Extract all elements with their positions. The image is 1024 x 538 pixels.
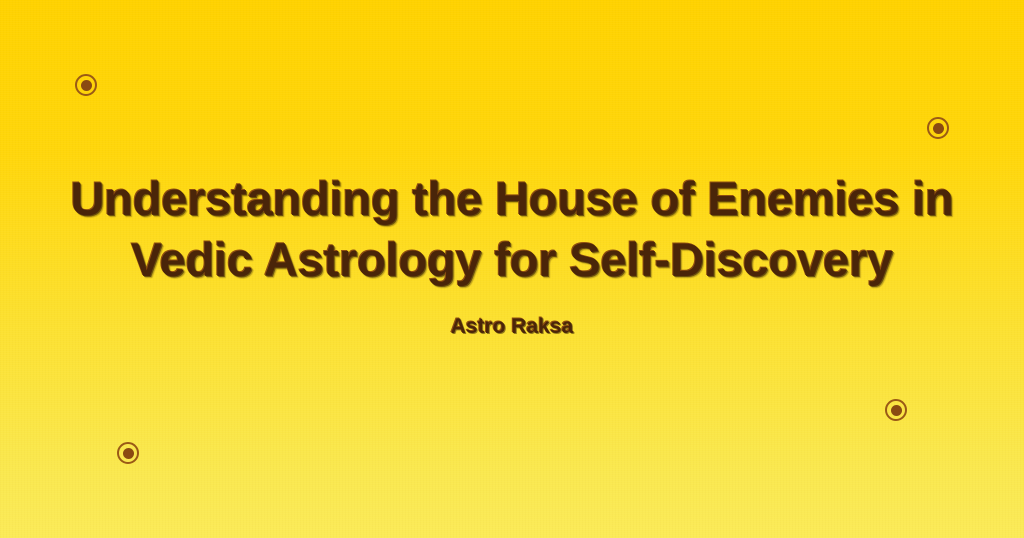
title-slide: Understanding the House of Enemies in Ve… — [0, 0, 1024, 538]
slide-subtitle: Astro Raksa — [40, 290, 984, 340]
circle-dot-center — [81, 80, 92, 91]
slide-content: Understanding the House of Enemies in Ve… — [0, 168, 1024, 340]
circle-dot-icon-bottom-right — [885, 399, 907, 421]
circle-dot-center — [933, 123, 944, 134]
circle-dot-icon-top-right — [927, 117, 949, 139]
circle-dot-center — [891, 405, 902, 416]
circle-dot-icon-top-left — [75, 74, 97, 96]
slide-title: Understanding the House of Enemies in Ve… — [40, 168, 984, 290]
circle-dot-icon-bottom-left — [117, 442, 139, 464]
circle-dot-center — [123, 448, 134, 459]
